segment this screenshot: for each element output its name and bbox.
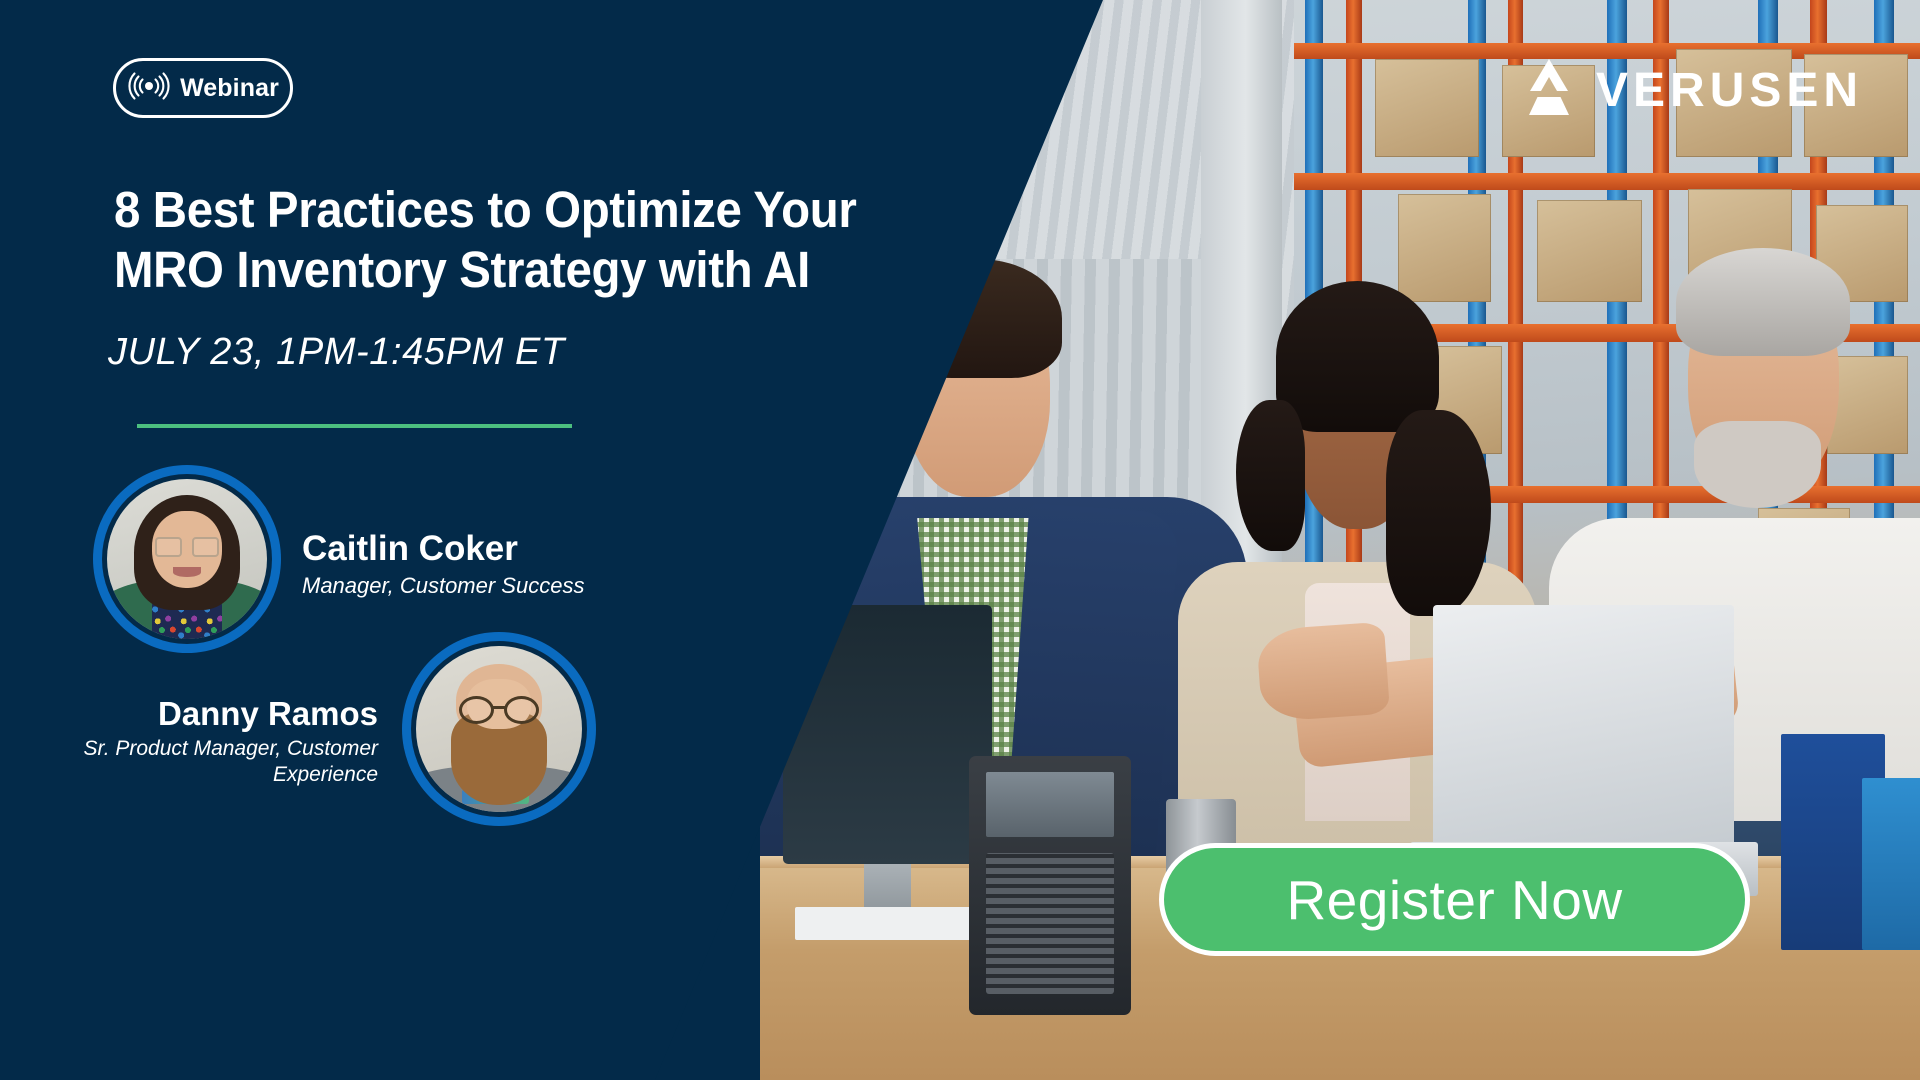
speaker-1-name: Caitlin Coker [302,529,518,569]
register-now-button[interactable]: Register Now [1159,843,1750,956]
speaker-1-role: Manager, Customer Success [302,573,584,599]
pointing-hand-person-3 [1256,622,1390,722]
smile [173,567,202,577]
speaker-2-role-line-1: Sr. Product Manager, Customer [83,737,378,760]
eyeglass-right [504,696,539,724]
verusen-triangle-mark-icon [1516,57,1582,124]
hair-curls-person-2 [1236,400,1306,551]
event-datetime: JULY 23, 1PM-1:45PM ET [108,331,565,374]
hair-person-2 [1276,281,1438,432]
hair-person-3 [1676,248,1850,356]
verusen-wordmark: VERUSEN [1596,63,1863,118]
avatar-photo [416,646,582,812]
left-content: Webinar 8 Best Practices to Optimize You… [0,0,1000,1080]
page-title: 8 Best Practices to Optimize Your MRO In… [114,180,944,300]
register-now-label: Register Now [1286,868,1622,932]
title-line-1: 8 Best Practices to Optimize Your [114,180,886,240]
eyeglass-right [192,537,219,558]
carton [1537,200,1641,303]
laptop-screen [1433,605,1735,843]
avatar-caitlin-coker [93,465,281,653]
carton [1398,194,1491,302]
speaker-2-name: Danny Ramos [60,694,378,734]
green-divider [137,424,572,428]
eyeglass-left [155,537,182,558]
broadcast-signal-icon [127,70,171,107]
avatar-danny-ramos [402,632,596,826]
webinar-badge-label: Webinar [180,74,279,103]
eyeglass-left [459,696,494,724]
speaker-2-role: Sr. Product Manager, Customer Experience [60,736,378,788]
glasses-bridge [492,706,505,709]
carton [1375,59,1479,156]
webinar-badge: Webinar [113,58,293,118]
title-line-2: MRO Inventory Strategy with AI [114,240,886,300]
scanner-keypad [986,853,1114,993]
carton [1827,356,1908,453]
binder-light [1862,778,1920,951]
avatar-photo [107,479,267,639]
avatar-inner-ring [102,474,272,644]
webinar-promo-banner: Webinar 8 Best Practices to Optimize You… [0,0,1920,1080]
speaker-2-text: Danny Ramos Sr. Product Manager, Custome… [60,694,378,788]
verusen-logo[interactable]: VERUSEN [1516,57,1863,124]
beard-person-3 [1694,421,1822,507]
scanner-screen [986,772,1114,837]
avatar-inner-ring [411,641,587,817]
speaker-2-role-line-2: Experience [273,763,378,786]
rack-beam [1294,173,1920,190]
